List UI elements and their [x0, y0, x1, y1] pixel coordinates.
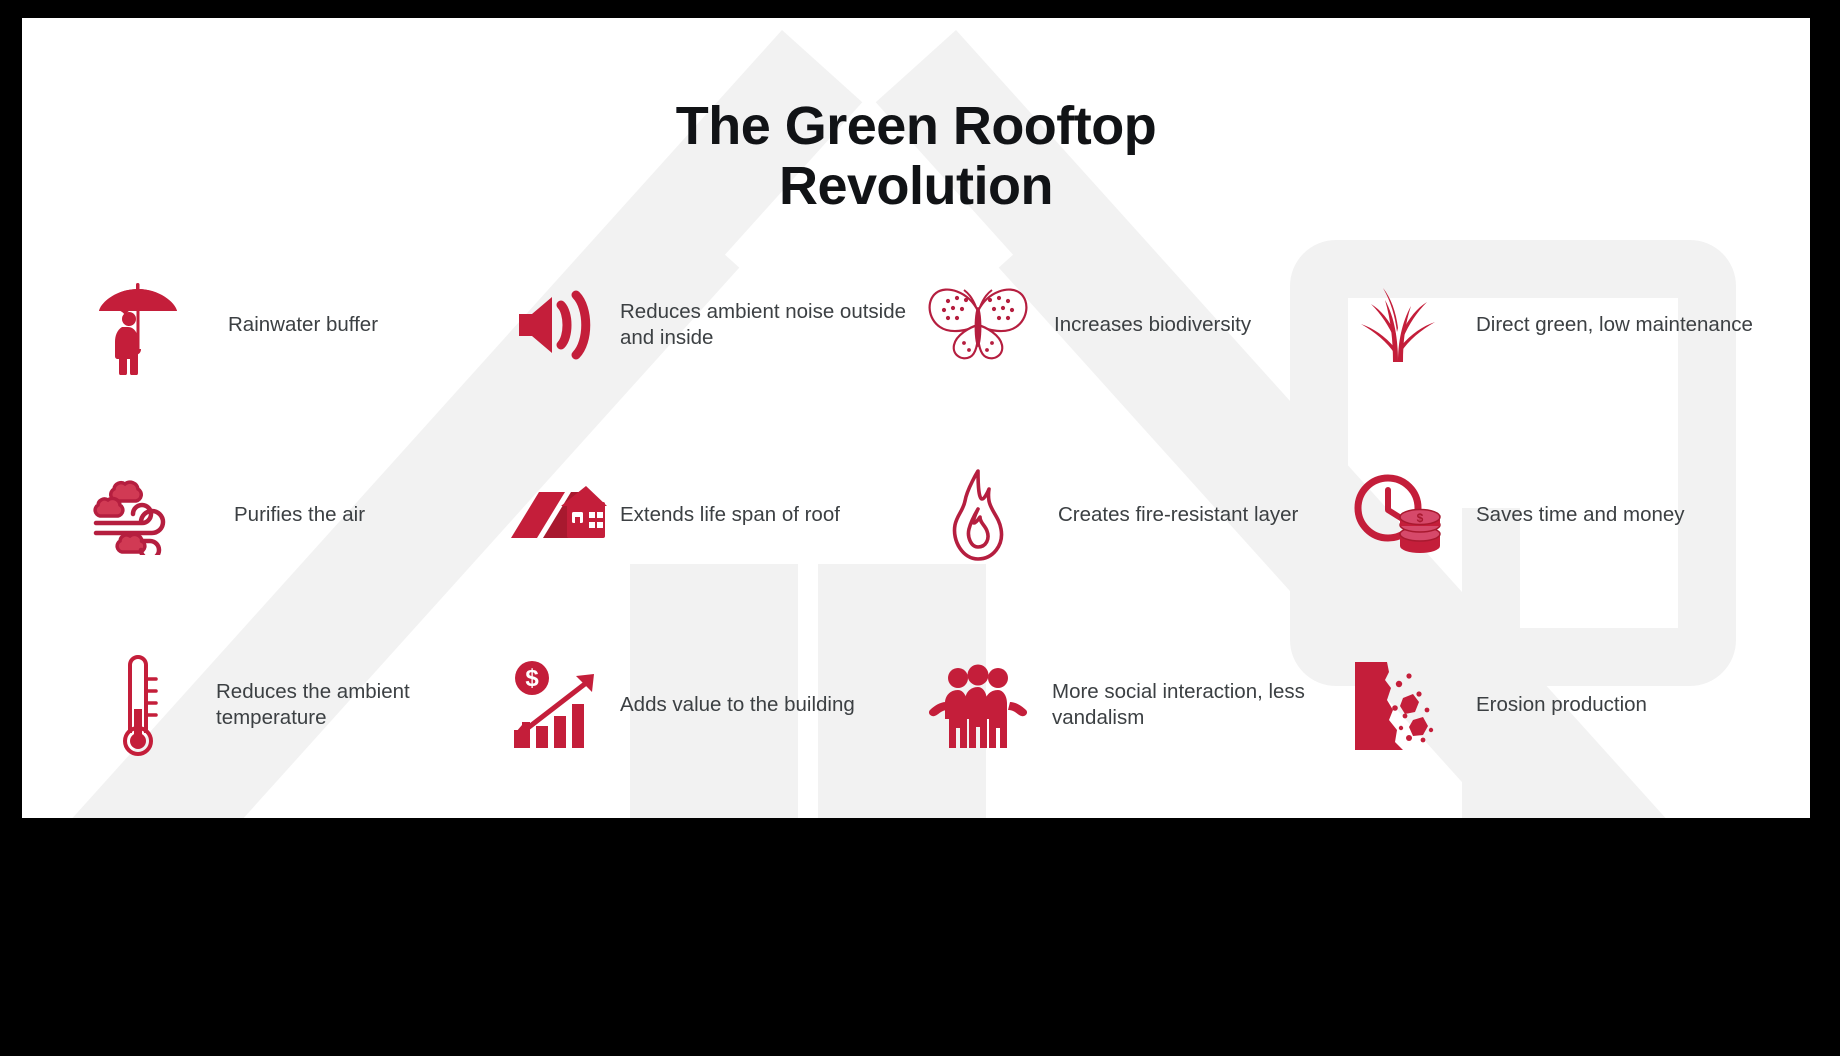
three-people-icon: [922, 653, 1034, 757]
grass-plant-icon: [1342, 273, 1454, 377]
flame-icon: [922, 463, 1034, 567]
benefit-item-rainwater-buffer[interactable]: Rainwater buffer: [82, 273, 502, 377]
erosion-cliff-icon: [1342, 653, 1454, 757]
clock-coins-icon: $: [1342, 463, 1454, 567]
benefit-label: Adds value to the building: [614, 692, 855, 718]
benefit-label: Creates fire-resistant layer: [1034, 502, 1298, 528]
benefits-row: Rainwater buffer Reduces ambient noise o…: [82, 273, 1762, 377]
benefit-label: Extends life span of roof: [614, 502, 840, 528]
page-title: The Green Rooftop Revolution: [22, 96, 1810, 217]
page-title-line-2: Revolution: [22, 156, 1810, 216]
benefit-item-erosion[interactable]: Erosion production: [1342, 653, 1762, 757]
slide-content: The Green Rooftop Revolution: [22, 18, 1810, 818]
benefit-label: Erosion production: [1454, 692, 1647, 718]
benefits-grid: Rainwater buffer Reduces ambient noise o…: [82, 273, 1762, 818]
benefit-label: Reduces ambient noise outside and inside: [614, 299, 922, 351]
benefit-item-fire-resistant[interactable]: Creates fire-resistant layer: [922, 463, 1342, 567]
benefit-item-adds-value[interactable]: $ Adds value to the building: [502, 653, 922, 757]
page-title-line-1: The Green Rooftop: [22, 96, 1810, 156]
benefit-label: More social interaction, less vandalism: [1034, 679, 1342, 731]
benefit-item-reduces-noise[interactable]: Reduces ambient noise outside and inside: [502, 273, 922, 377]
benefit-item-biodiversity[interactable]: Increases biodiversity: [922, 273, 1342, 377]
slide-canvas: The Green Rooftop Revolution: [0, 0, 1840, 1056]
benefit-label: Rainwater buffer: [194, 312, 378, 338]
benefit-item-direct-green[interactable]: Direct green, low maintenance: [1342, 273, 1762, 377]
benefits-row: Purifies the air: [82, 463, 1762, 567]
svg-text:$: $: [1417, 511, 1424, 525]
benefit-item-social-interaction[interactable]: More social interaction, less vandalism: [922, 653, 1342, 757]
benefit-item-reduces-temperature[interactable]: Reduces the ambient temperature: [82, 653, 502, 757]
benefit-label: Increases biodiversity: [1034, 312, 1251, 338]
umbrella-person-icon: [82, 273, 194, 377]
benefit-label: Purifies the air: [194, 502, 365, 528]
benefit-label: Direct green, low maintenance: [1454, 312, 1753, 338]
speaker-noise-icon: [502, 273, 614, 377]
benefit-label: Saves time and money: [1454, 502, 1685, 528]
house-roof-icon: [502, 463, 614, 567]
benefit-item-extends-roof-life[interactable]: Extends life span of roof: [502, 463, 922, 567]
svg-text:$: $: [525, 665, 539, 692]
benefits-row: Reduces the ambient temperature $: [82, 653, 1762, 757]
wind-clouds-icon: [82, 463, 194, 567]
dollar-growth-chart-icon: $: [502, 653, 614, 757]
thermometer-icon: [82, 653, 194, 757]
benefit-label: Reduces the ambient temperature: [194, 679, 502, 731]
butterfly-icon: [922, 273, 1034, 377]
benefit-item-saves-time-money[interactable]: $ Saves time and money: [1342, 463, 1762, 567]
benefit-item-purifies-air[interactable]: Purifies the air: [82, 463, 502, 567]
